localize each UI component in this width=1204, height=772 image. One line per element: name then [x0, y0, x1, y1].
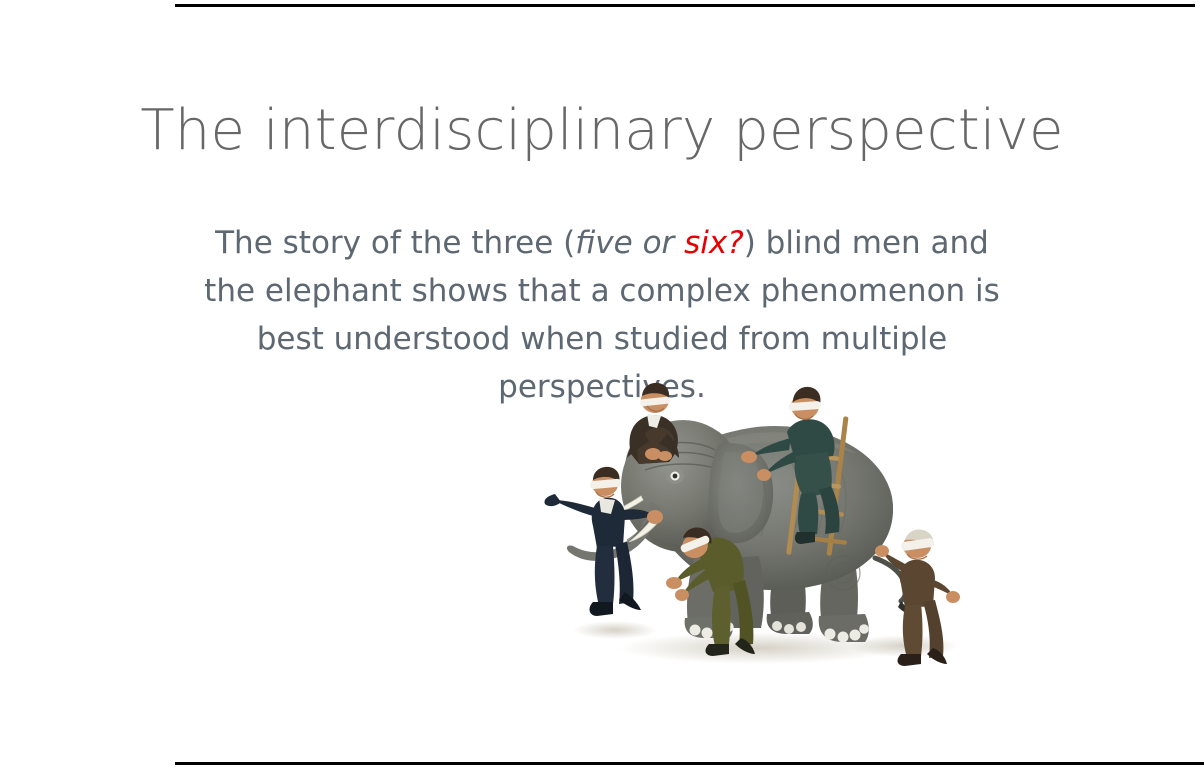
elephant-eye [666, 468, 684, 484]
page-title: The interdisciplinary perspective [0, 100, 1204, 162]
bottom-divider-rule [175, 762, 1204, 765]
body-text-italic-red-highlight: six? [684, 225, 744, 261]
body-text-italic-gray: five or [575, 225, 684, 261]
top-divider-rule [175, 4, 1195, 7]
body-text-part-1: The story of the three ( [215, 225, 575, 261]
slide: The interdisciplinary perspective The st… [0, 0, 1204, 772]
figure-man-on-head [627, 383, 679, 464]
elephant-illustration [543, 358, 993, 683]
